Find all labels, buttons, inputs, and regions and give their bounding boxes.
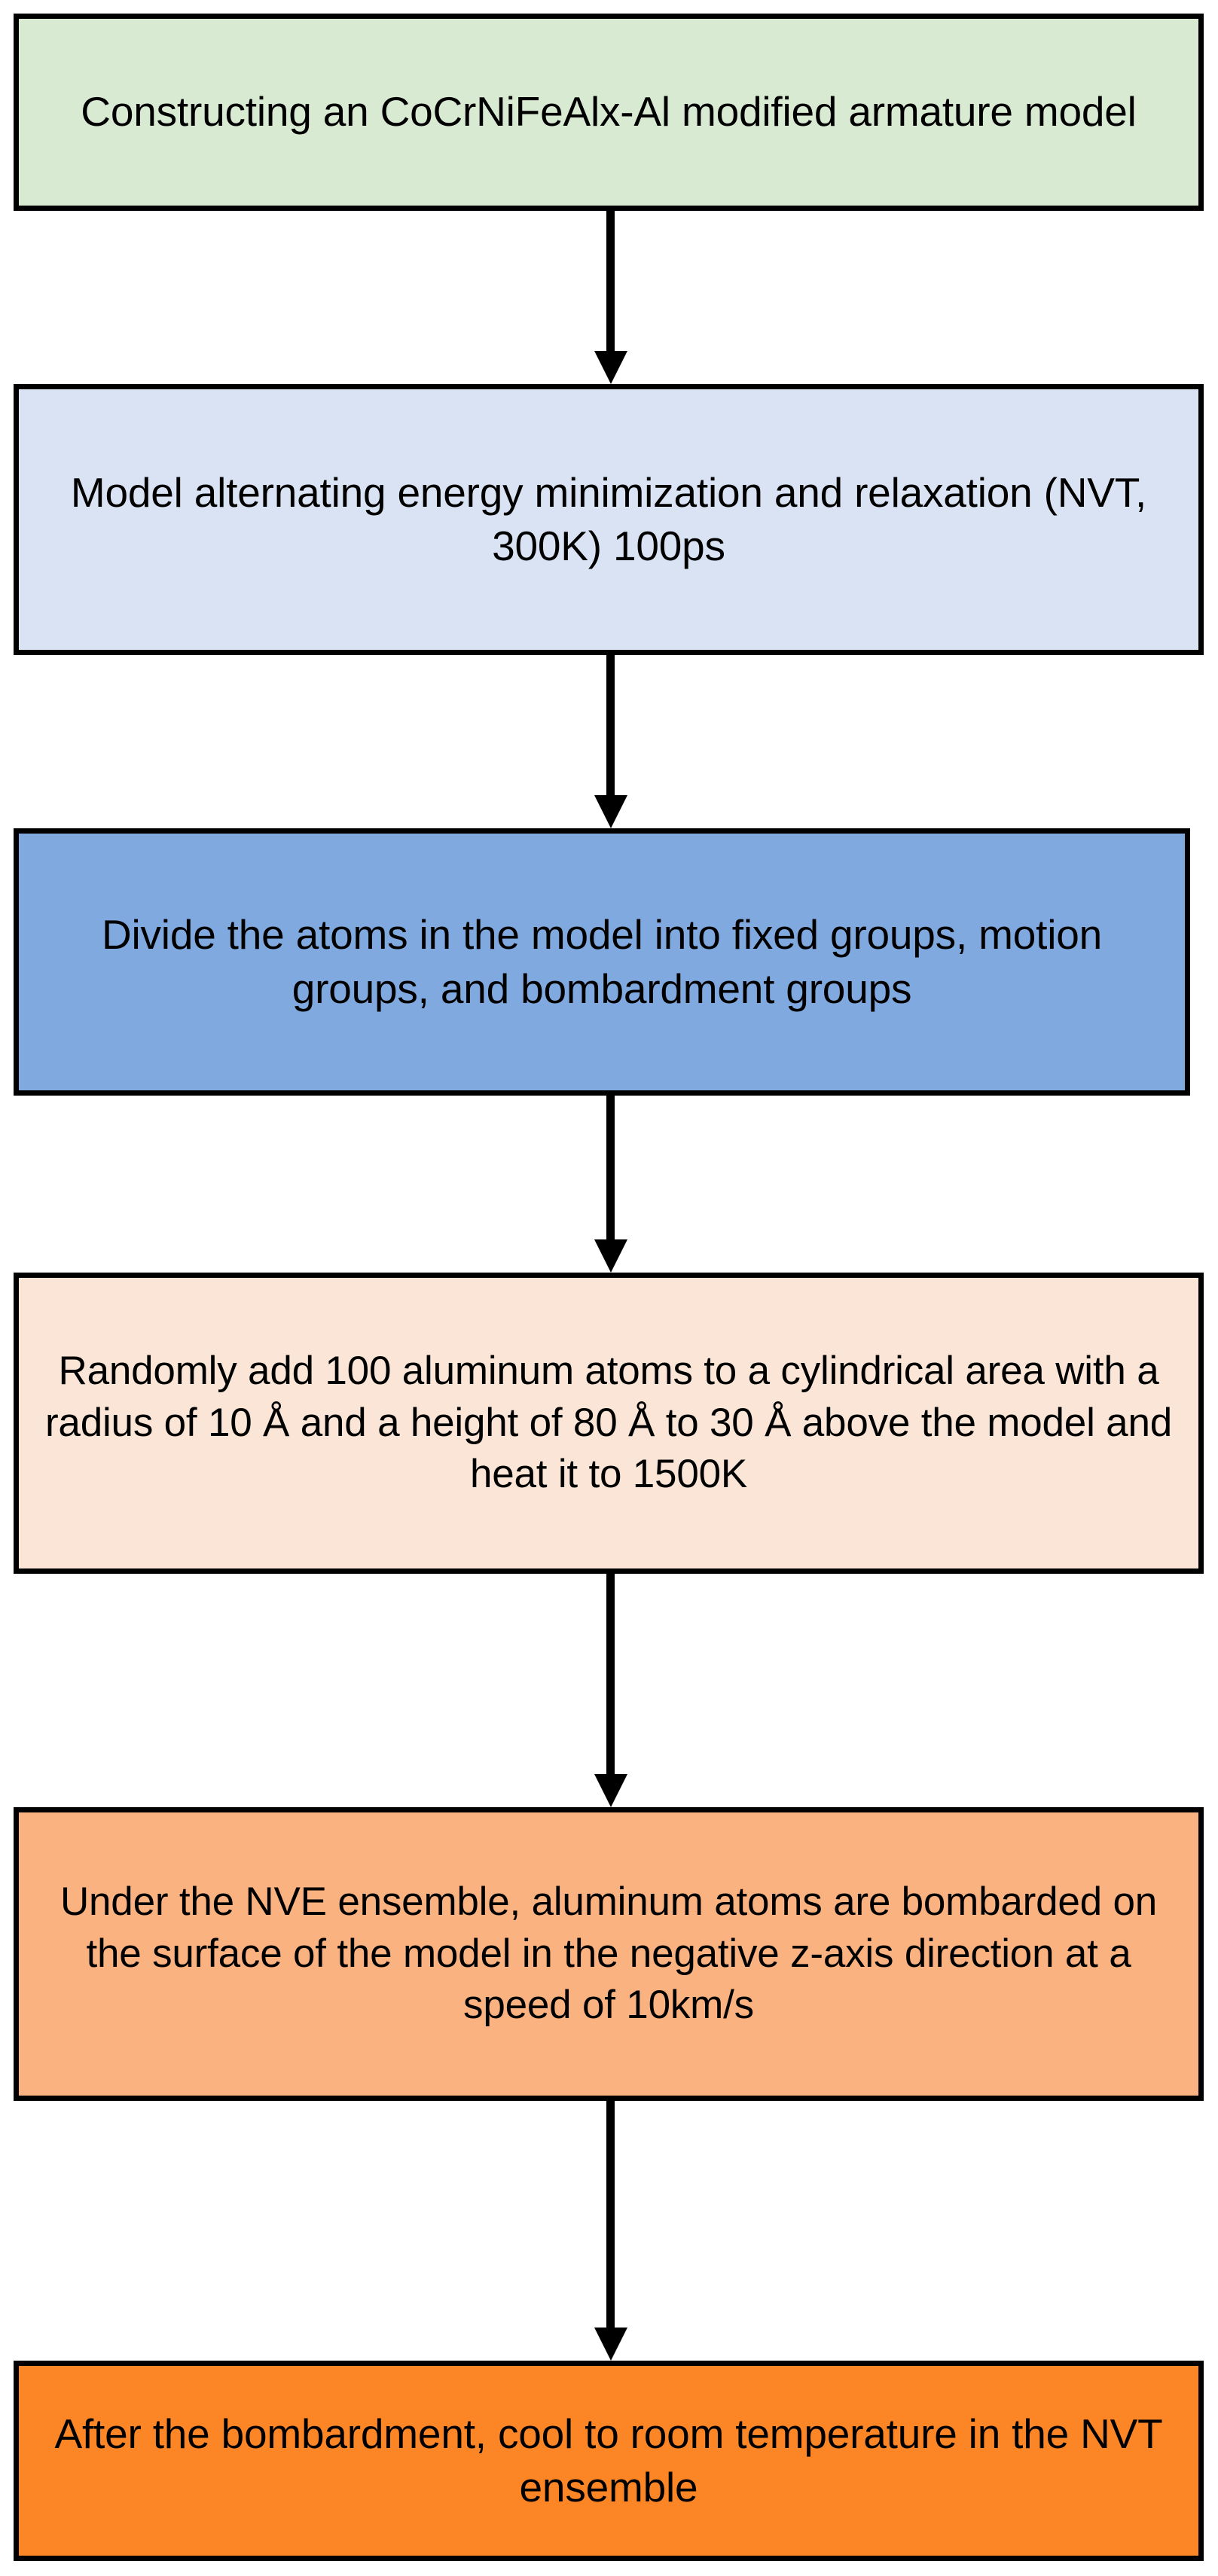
flowchart-node-1: Constructing an CoCrNiFeAlx-Al modified … — [14, 14, 1204, 211]
flowchart-node-5: Under the NVE ensemble, aluminum atoms a… — [14, 1807, 1204, 2101]
flowchart-node-2-label: Model alternating energy minimization an… — [38, 466, 1179, 574]
connector-shaft — [606, 1574, 615, 1774]
flowchart-node-6: After the bombardment, cool to room temp… — [14, 2361, 1204, 2561]
flowchart-node-1-label: Constructing an CoCrNiFeAlx-Al modified … — [38, 85, 1179, 139]
flowchart-node-6-label: After the bombardment, cool to room temp… — [38, 2407, 1179, 2515]
flowchart-connector-2 — [0, 655, 1218, 828]
connector-shaft — [606, 655, 615, 795]
arrowhead-down-icon — [594, 351, 627, 384]
flowchart-connector-3 — [0, 1096, 1218, 1273]
flowchart-node-2: Model alternating energy minimization an… — [14, 384, 1204, 655]
flowchart-node-5-label: Under the NVE ensemble, aluminum atoms a… — [38, 1876, 1179, 2032]
arrowhead-down-icon — [594, 1774, 627, 1807]
arrowhead-down-icon — [594, 1239, 627, 1273]
flowchart-node-3: Divide the atoms in the model into fixed… — [14, 828, 1190, 1096]
flowchart-node-4-label: Randomly add 100 aluminum atoms to a cyl… — [38, 1346, 1179, 1501]
connector-shaft — [606, 2101, 615, 2328]
flowchart-node-4: Randomly add 100 aluminum atoms to a cyl… — [14, 1273, 1204, 1574]
arrowhead-down-icon — [594, 2328, 627, 2361]
flowchart-node-3-label: Divide the atoms in the model into fixed… — [38, 908, 1165, 1016]
flowchart-connector-1 — [0, 211, 1218, 384]
flowchart-connector-4 — [0, 1574, 1218, 1807]
flowchart-connector-5 — [0, 2101, 1218, 2361]
connector-shaft — [606, 211, 615, 351]
flowchart-diagram: Constructing an CoCrNiFeAlx-Al modified … — [0, 0, 1218, 2576]
connector-shaft — [606, 1096, 615, 1239]
arrowhead-down-icon — [594, 795, 627, 828]
